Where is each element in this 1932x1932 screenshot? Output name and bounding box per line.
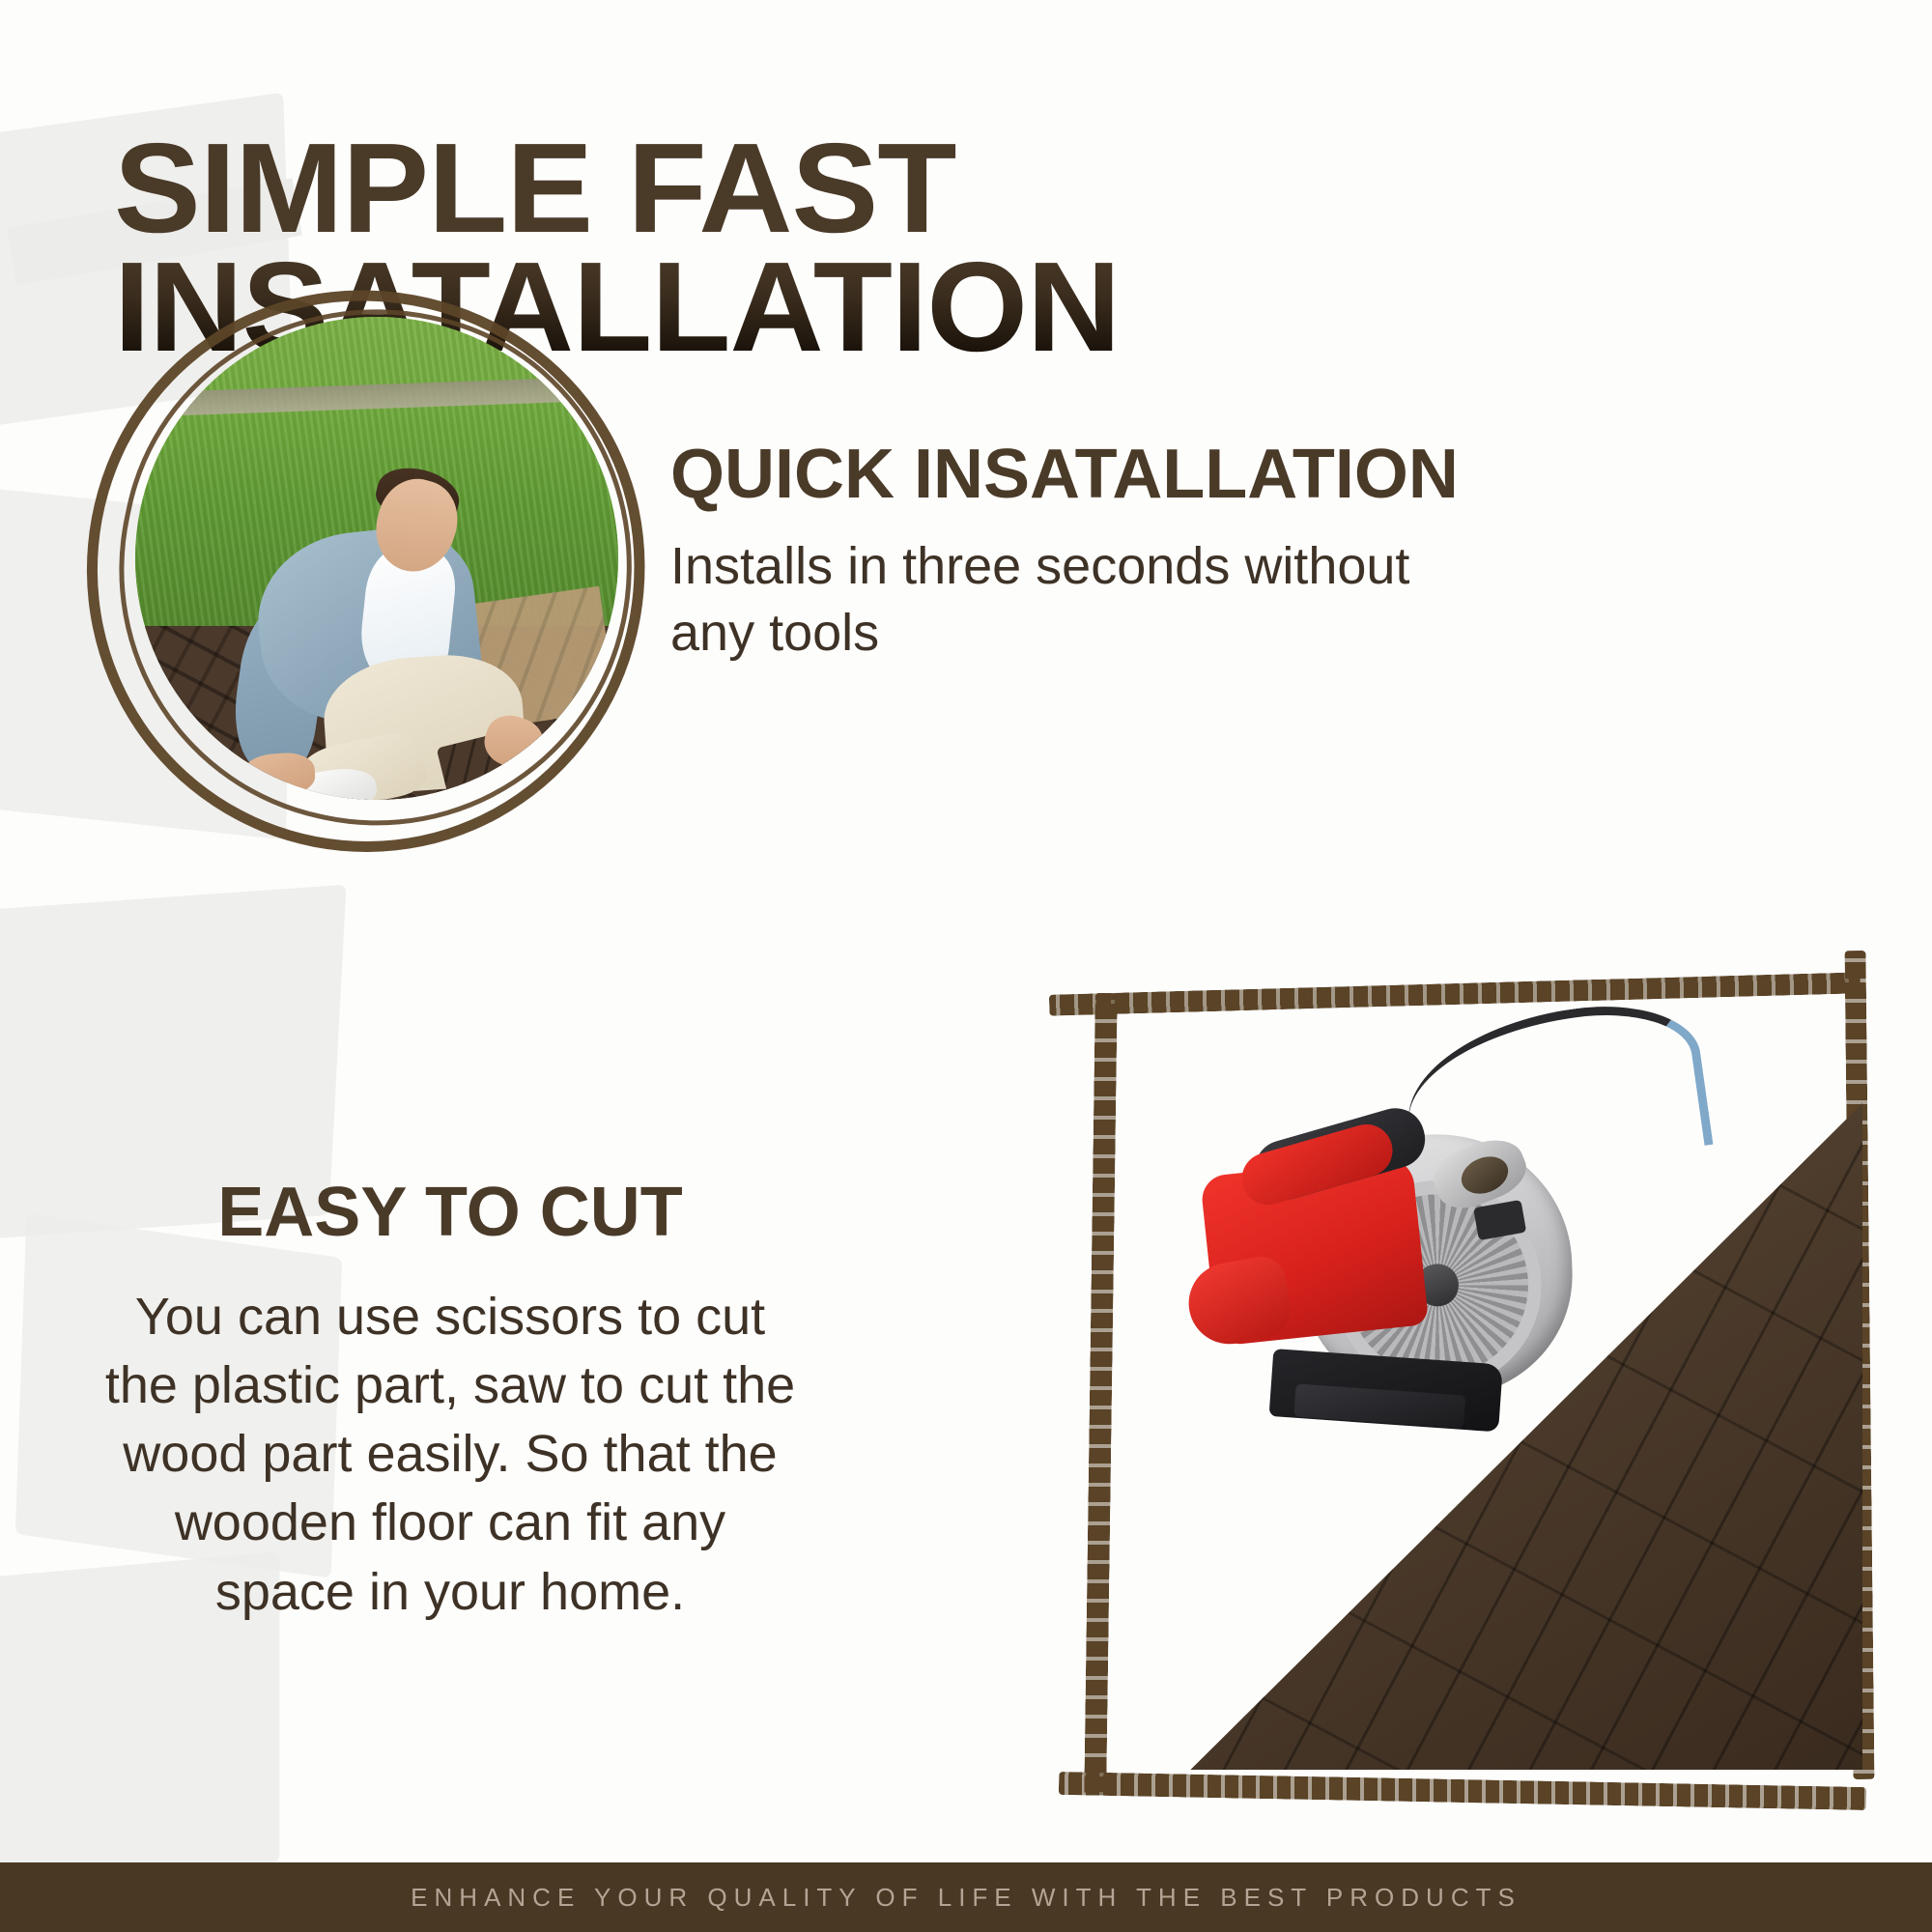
chalk-frame-top bbox=[1049, 972, 1861, 1015]
chalk-frame-left bbox=[1084, 993, 1118, 1795]
circular-saw-icon bbox=[1181, 1087, 1601, 1487]
page-title-line-1: SIMPLE FAST bbox=[114, 129, 1296, 248]
installation-photo bbox=[85, 282, 645, 842]
feature-body-quick-installation: Installs in three seconds without any to… bbox=[670, 533, 1463, 667]
feature-heading-easy-to-cut: EASY TO CUT bbox=[93, 1177, 808, 1250]
installation-photo-image bbox=[135, 317, 618, 800]
feature-heading-quick-installation: QUICK INSATALLATION bbox=[670, 439, 1859, 512]
chalk-frame-bottom bbox=[1059, 1772, 1866, 1810]
feature-quick-installation: QUICK INSATALLATION Installs in three se… bbox=[670, 439, 1859, 667]
feature-easy-to-cut: EASY TO CUT You can use scissors to cut … bbox=[93, 1177, 808, 1627]
feature-body-easy-to-cut: You can use scissors to cut the plastic … bbox=[102, 1283, 798, 1627]
saw-photo bbox=[1041, 929, 1891, 1808]
poster-canvas: SIMPLE FAST INSATALLATION QUICK INSATALL… bbox=[0, 0, 1932, 1932]
footer-tagline: ENHANCE YOUR QUALITY OF LIFE WITH THE BE… bbox=[411, 1883, 1521, 1913]
footer-banner: ENHANCE YOUR QUALITY OF LIFE WITH THE BE… bbox=[0, 1862, 1932, 1932]
